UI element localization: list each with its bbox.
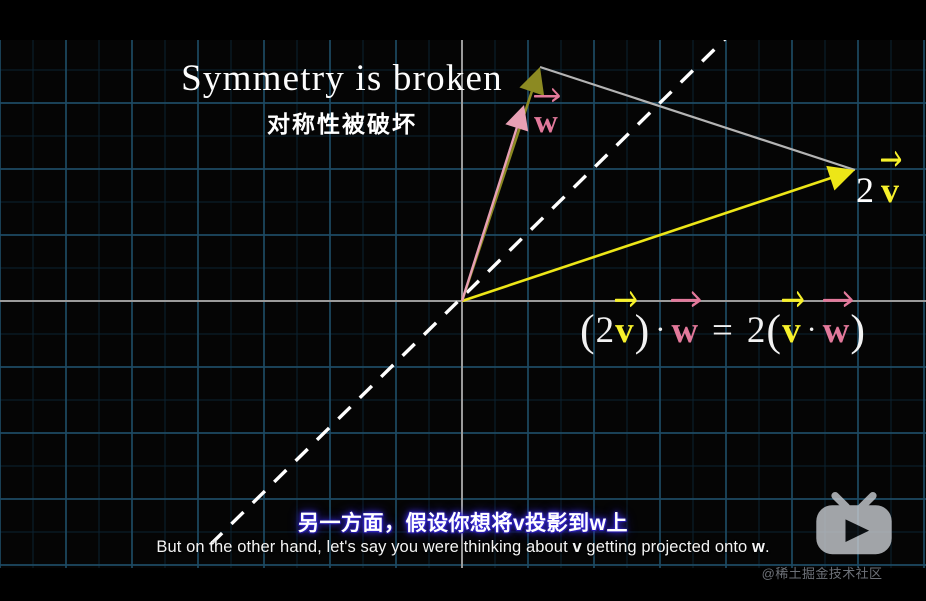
letterbox-top bbox=[0, 0, 926, 40]
video-frame-screenshot: Symmetry is broken 对称性被破坏 w 2v (2v)·w=2(… bbox=[0, 0, 926, 601]
bilibili-tv-logo-icon bbox=[806, 492, 902, 558]
projection-connector-line bbox=[540, 67, 855, 170]
scene-canvas bbox=[0, 40, 926, 568]
vector-2v bbox=[462, 166, 855, 301]
vector-layer bbox=[0, 40, 926, 568]
watermark-text: @稀土掘金技术社区 bbox=[726, 563, 918, 582]
